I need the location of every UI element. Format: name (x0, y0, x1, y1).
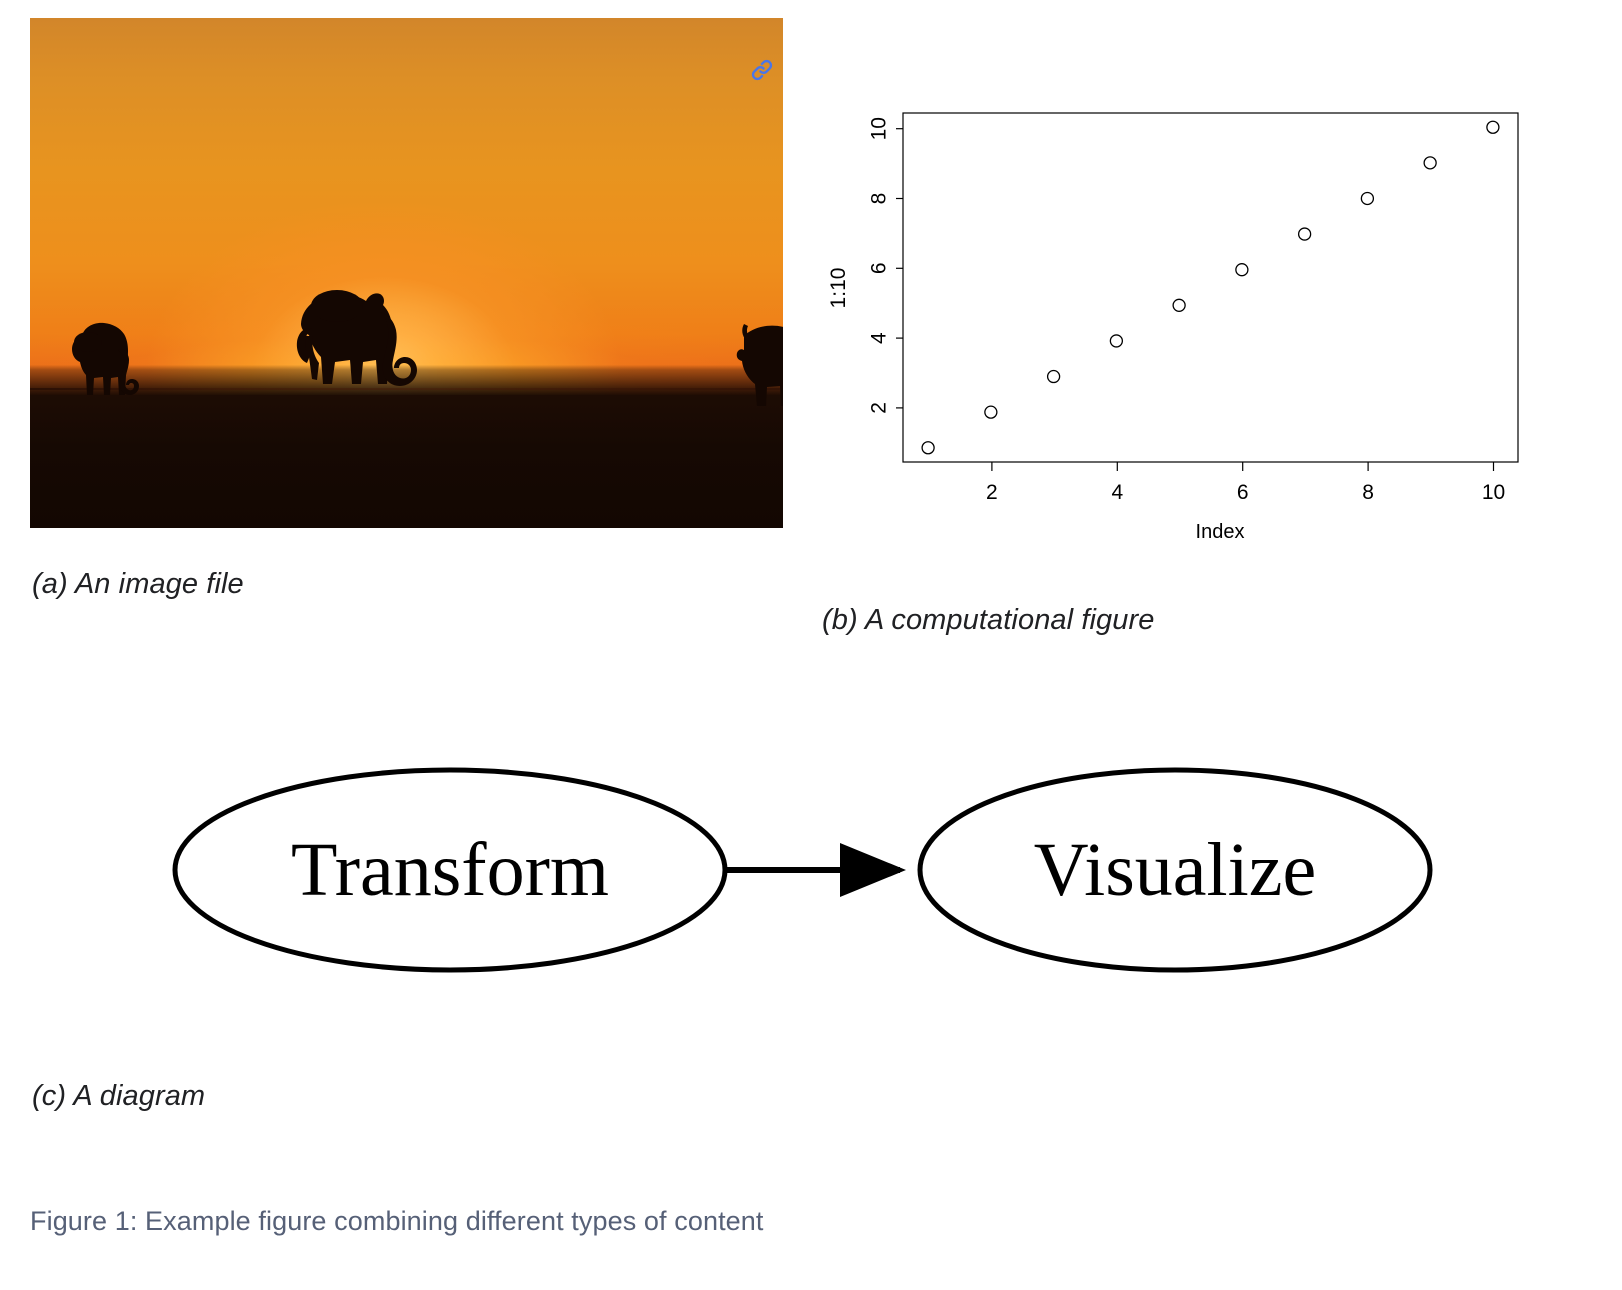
node-visualize-label: Visualize (1034, 828, 1316, 912)
transform-visualize-diagram: Transform Visualize (140, 740, 1480, 1010)
node-transform-label: Transform (291, 828, 609, 912)
x-tick-labels: 2 4 6 8 10 (986, 481, 1505, 504)
svg-text:10: 10 (1482, 481, 1505, 504)
figure-caption: Figure 1: Example figure combining diffe… (30, 1206, 764, 1237)
x-axis-ticks (992, 462, 1494, 471)
y-tick-labels: 10 8 6 4 2 (868, 117, 891, 414)
elephant-silhouette-left (58, 316, 148, 401)
elephant-silhouette-center (285, 278, 445, 408)
panel-diagram: Transform Visualize (140, 740, 1480, 1010)
y-axis-ticks (896, 129, 903, 408)
plot-frame (903, 113, 1518, 462)
svg-text:6: 6 (868, 262, 891, 274)
x-axis-title: Index (1196, 521, 1245, 543)
link-icon[interactable] (742, 50, 782, 90)
svg-text:8: 8 (868, 193, 891, 205)
elephant-silhouette-right (710, 318, 783, 406)
svg-text:6: 6 (1237, 481, 1249, 504)
subcaption-b: (b) A computational figure (822, 604, 1155, 637)
y-axis-title: 1:10 (827, 268, 850, 309)
photo-ground (30, 395, 783, 528)
svg-text:2: 2 (986, 481, 998, 504)
svg-text:2: 2 (868, 402, 891, 414)
scatter-plot: 10 8 6 4 2 1:10 2 4 6 8 10 Index (820, 80, 1580, 570)
elephant-sunset-photo (30, 18, 783, 528)
svg-text:8: 8 (1362, 481, 1374, 504)
svg-text:4: 4 (868, 332, 891, 344)
panel-computational-figure: 10 8 6 4 2 1:10 2 4 6 8 10 Index (820, 80, 1580, 570)
subcaption-c: (c) A diagram (32, 1080, 205, 1113)
svg-text:10: 10 (868, 117, 891, 140)
panel-image-file (30, 18, 783, 528)
svg-text:4: 4 (1111, 481, 1123, 504)
subcaption-a: (a) An image file (32, 568, 244, 601)
